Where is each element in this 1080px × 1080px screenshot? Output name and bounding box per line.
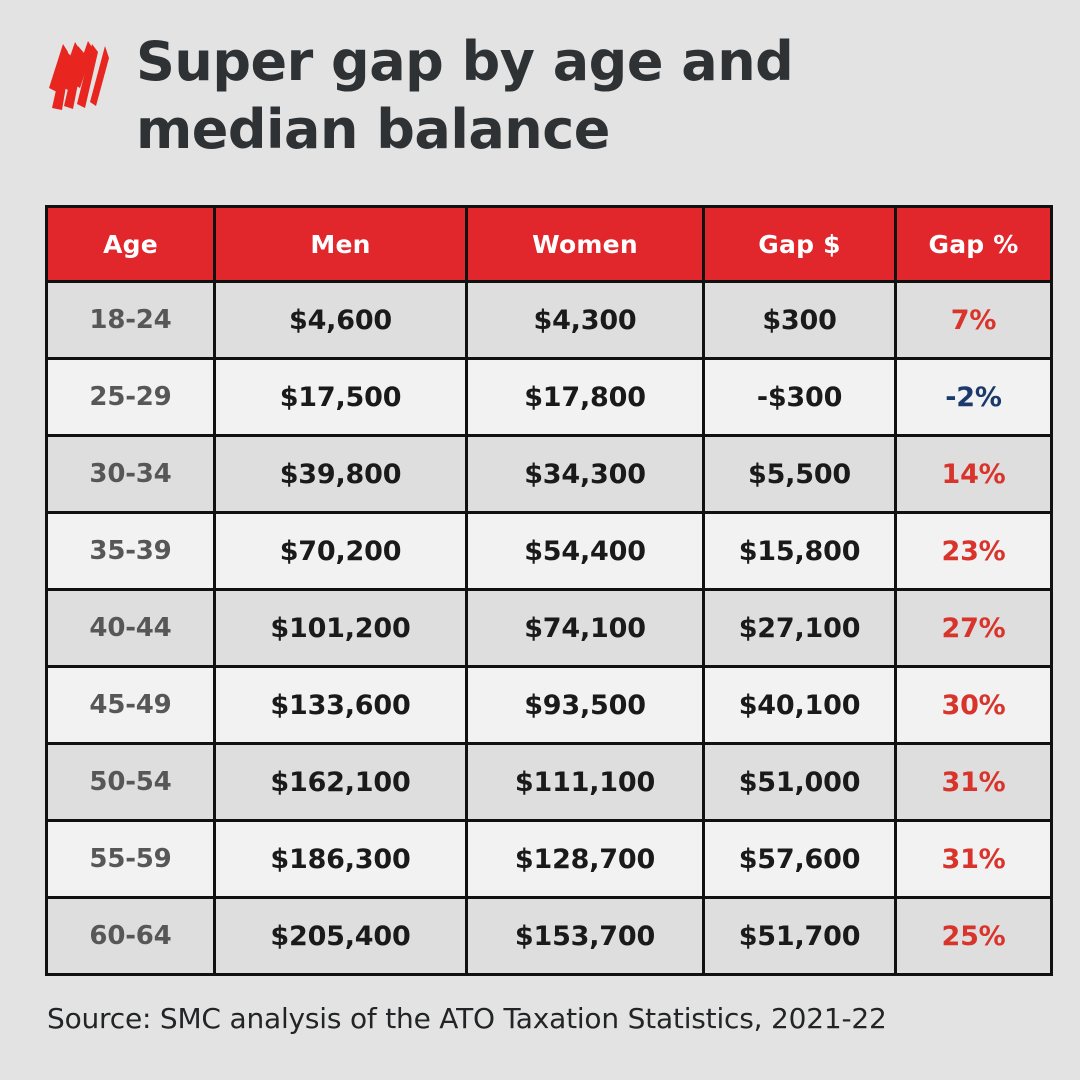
- cell-men: $17,500: [215, 359, 467, 436]
- cell-gap-dollars: $51,000: [704, 744, 896, 821]
- cell-men: $162,100: [215, 744, 467, 821]
- table-row: 45-49 $133,600 $93,500 $40,100 30%: [47, 667, 1052, 744]
- cell-gap-dollars: $300: [704, 282, 896, 359]
- column-header-age: Age: [47, 207, 215, 282]
- table-header: Age Men Women Gap $ Gap %: [47, 207, 1052, 282]
- infographic-page: Super gap by age and median balance Age …: [0, 0, 1080, 1080]
- cell-gap-dollars: $27,100: [704, 590, 896, 667]
- table-row: 25-29 $17,500 $17,800 -$300 -2%: [47, 359, 1052, 436]
- cell-gap-percent: 27%: [896, 590, 1052, 667]
- cell-age: 40-44: [47, 590, 215, 667]
- cell-gap-percent: 25%: [896, 898, 1052, 975]
- table-header-row: Age Men Women Gap $ Gap %: [47, 207, 1052, 282]
- cell-women: $93,500: [467, 667, 704, 744]
- super-gap-table: Age Men Women Gap $ Gap % 18-24 $4,600 $…: [45, 205, 1053, 976]
- table-row: 55-59 $186,300 $128,700 $57,600 31%: [47, 821, 1052, 898]
- page-title: Super gap by age and median balance: [136, 28, 996, 164]
- column-header-women: Women: [467, 207, 704, 282]
- table-row: 30-34 $39,800 $34,300 $5,500 14%: [47, 436, 1052, 513]
- cell-gap-dollars: $40,100: [704, 667, 896, 744]
- source-note: Source: SMC analysis of the ATO Taxation…: [47, 1002, 887, 1035]
- cell-age: 60-64: [47, 898, 215, 975]
- column-header-gap-dollars: Gap $: [704, 207, 896, 282]
- cell-men: $133,600: [215, 667, 467, 744]
- cell-gap-dollars: $57,600: [704, 821, 896, 898]
- table-body: 18-24 $4,600 $4,300 $300 7% 25-29 $17,50…: [47, 282, 1052, 975]
- cell-men: $205,400: [215, 898, 467, 975]
- cell-age: 25-29: [47, 359, 215, 436]
- cell-women: $34,300: [467, 436, 704, 513]
- cell-age: 50-54: [47, 744, 215, 821]
- table-row: 18-24 $4,600 $4,300 $300 7%: [47, 282, 1052, 359]
- cell-men: $101,200: [215, 590, 467, 667]
- cell-gap-dollars: $15,800: [704, 513, 896, 590]
- column-header-gap-percent: Gap %: [896, 207, 1052, 282]
- cell-women: $17,800: [467, 359, 704, 436]
- cell-age: 35-39: [47, 513, 215, 590]
- cell-gap-percent: -2%: [896, 359, 1052, 436]
- cell-gap-percent: 31%: [896, 744, 1052, 821]
- cell-gap-dollars: $5,500: [704, 436, 896, 513]
- cell-age: 45-49: [47, 667, 215, 744]
- cell-gap-dollars: $51,700: [704, 898, 896, 975]
- cell-age: 18-24: [47, 282, 215, 359]
- cell-women: $111,100: [467, 744, 704, 821]
- table-row: 60-64 $205,400 $153,700 $51,700 25%: [47, 898, 1052, 975]
- table-row: 50-54 $162,100 $111,100 $51,000 31%: [47, 744, 1052, 821]
- table-row: 35-39 $70,200 $54,400 $15,800 23%: [47, 513, 1052, 590]
- super-gap-table-wrapper: Age Men Women Gap $ Gap % 18-24 $4,600 $…: [45, 205, 1050, 976]
- table-row: 40-44 $101,200 $74,100 $27,100 27%: [47, 590, 1052, 667]
- header: Super gap by age and median balance: [0, 0, 1080, 190]
- cell-age: 55-59: [47, 821, 215, 898]
- cell-gap-percent: 7%: [896, 282, 1052, 359]
- cell-men: $70,200: [215, 513, 467, 590]
- cell-gap-percent: 31%: [896, 821, 1052, 898]
- cell-women: $4,300: [467, 282, 704, 359]
- cell-women: $128,700: [467, 821, 704, 898]
- cell-women: $74,100: [467, 590, 704, 667]
- cell-men: $4,600: [215, 282, 467, 359]
- cell-gap-dollars: -$300: [704, 359, 896, 436]
- cell-gap-percent: 14%: [896, 436, 1052, 513]
- cell-gap-percent: 30%: [896, 667, 1052, 744]
- column-header-men: Men: [215, 207, 467, 282]
- cell-women: $153,700: [467, 898, 704, 975]
- cell-men: $186,300: [215, 821, 467, 898]
- cell-women: $54,400: [467, 513, 704, 590]
- cell-men: $39,800: [215, 436, 467, 513]
- cell-age: 30-34: [47, 436, 215, 513]
- sbs-flame-logo-icon: [38, 36, 116, 114]
- cell-gap-percent: 23%: [896, 513, 1052, 590]
